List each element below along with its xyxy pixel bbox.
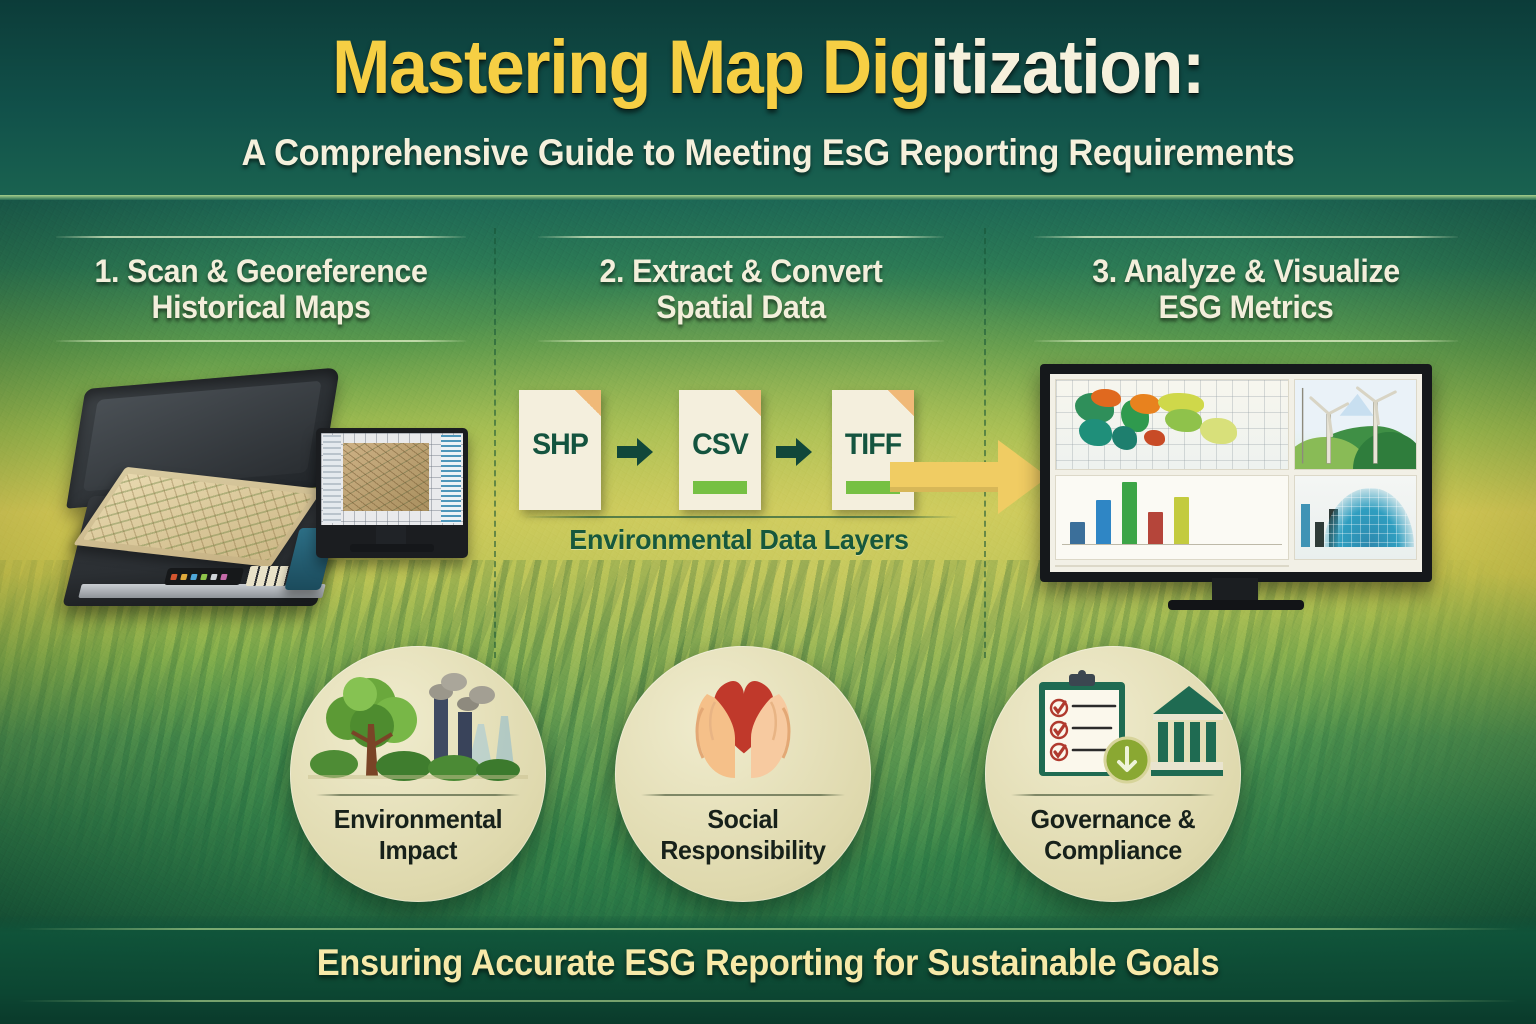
folded-corner-icon xyxy=(575,390,601,416)
header-band: Mastering Map Digitization: A Comprehens… xyxy=(0,0,1536,200)
label-line-2: Compliance xyxy=(1044,835,1182,865)
folded-corner-icon xyxy=(888,390,914,416)
step-3-line-2: ESG Metrics xyxy=(1031,289,1460,325)
panel-pie-chart[interactable] xyxy=(1055,565,1289,567)
page-subtitle: A Comprehensive Guide to Meeting EsG Rep… xyxy=(54,131,1482,175)
scanner-keypad[interactable] xyxy=(246,566,291,586)
wind-turbine-icon xyxy=(1295,380,1416,469)
step-1-line-2: Historical Maps xyxy=(53,289,469,325)
georeferencing-monitor xyxy=(316,428,468,558)
panel-terrain-chart[interactable] xyxy=(1294,475,1417,560)
panel-world-map[interactable] xyxy=(1055,379,1289,470)
divider xyxy=(316,794,520,796)
scanner-control-panel[interactable] xyxy=(164,568,244,585)
panel-bar-chart[interactable] xyxy=(1055,475,1289,560)
gis-layer-panel[interactable] xyxy=(441,435,461,523)
esg-pillar-social[interactable]: Social Responsibility xyxy=(615,646,871,902)
step-3-line-1: 3. Analyze & Visualize xyxy=(1031,253,1460,289)
step-header-2: 2. Extract & Convert Spatial Data xyxy=(524,236,958,342)
step-header-1: 1. Scan & Georeference Historical Maps xyxy=(42,236,480,342)
divider xyxy=(1011,794,1215,796)
footer-band: Ensuring Accurate ESG Reporting for Sust… xyxy=(0,916,1536,1024)
column-divider-left xyxy=(494,228,496,658)
step-1-line-1: 1. Scan & Georeference xyxy=(53,253,469,289)
label-line-1: Social xyxy=(707,804,778,834)
scanned-map-preview xyxy=(343,443,429,511)
monitor-stand xyxy=(376,526,406,546)
folded-corner-icon xyxy=(735,390,761,416)
divider xyxy=(641,794,845,796)
file-card-csv[interactable]: CSV xyxy=(679,390,761,510)
esg-pillar-governance[interactable]: Governance & Compliance xyxy=(985,646,1241,902)
label-line-2: Impact xyxy=(379,835,457,865)
tree-and-smokestacks-icon xyxy=(308,668,528,786)
esg-pillar-governance-label: Governance & Compliance xyxy=(998,804,1228,866)
label-line-1: Governance & xyxy=(1031,804,1196,834)
arrow-right-icon-1 xyxy=(615,435,655,469)
file-card-csv-label: CSV xyxy=(681,428,759,462)
caption-rule xyxy=(524,516,958,518)
esg-dashboard-monitor xyxy=(1040,364,1432,616)
infographic-canvas: Mastering Map Digitization: A Comprehens… xyxy=(0,0,1536,1024)
page-title-yellow: Mastering Map Dig xyxy=(332,25,930,110)
scanner-illustration xyxy=(70,378,470,628)
file-card-shp[interactable]: SHP xyxy=(519,390,601,510)
label-line-1: Environmental xyxy=(334,804,502,834)
dashboard-screen xyxy=(1050,374,1422,572)
clipboard-and-institution-icon xyxy=(1003,668,1223,786)
file-card-shp-label: SHP xyxy=(521,428,599,462)
esg-pillar-social-label: Social Responsibility xyxy=(628,804,858,866)
esg-pillar-environmental-label: Environmental Impact xyxy=(303,804,533,866)
step-headers: 1. Scan & Georeference Historical Maps 2… xyxy=(0,236,1536,342)
hands-holding-heart-icon xyxy=(633,668,853,786)
footer-tagline: Ensuring Accurate ESG Reporting for Sust… xyxy=(54,942,1482,984)
monitor-screen xyxy=(321,433,463,525)
pipeline-to-dashboard-arrow-icon xyxy=(890,432,1050,522)
panel-wind-energy[interactable] xyxy=(1294,379,1417,470)
page-title: Mastering Map Digitization: xyxy=(61,28,1474,108)
gis-toolbar[interactable] xyxy=(323,435,341,523)
pipeline-caption: Environmental Data Layers xyxy=(504,524,974,556)
dashboard-bezel xyxy=(1040,364,1432,582)
monitor-base xyxy=(350,544,434,552)
step-2-line-2: Spatial Data xyxy=(535,289,947,325)
file-card-bar xyxy=(693,481,747,494)
esg-pillar-environmental[interactable]: Environmental Impact xyxy=(290,646,546,902)
step-header-3: 3. Analyze & Visualize ESG Metrics xyxy=(1020,236,1472,342)
historical-map-document xyxy=(83,473,313,560)
page-title-cream: itization: xyxy=(930,25,1204,110)
dashboard-base xyxy=(1168,600,1304,610)
step-2-line-1: 2. Extract & Convert xyxy=(535,253,947,289)
label-line-2: Responsibility xyxy=(660,835,825,865)
arrow-right-icon-2 xyxy=(774,435,814,469)
